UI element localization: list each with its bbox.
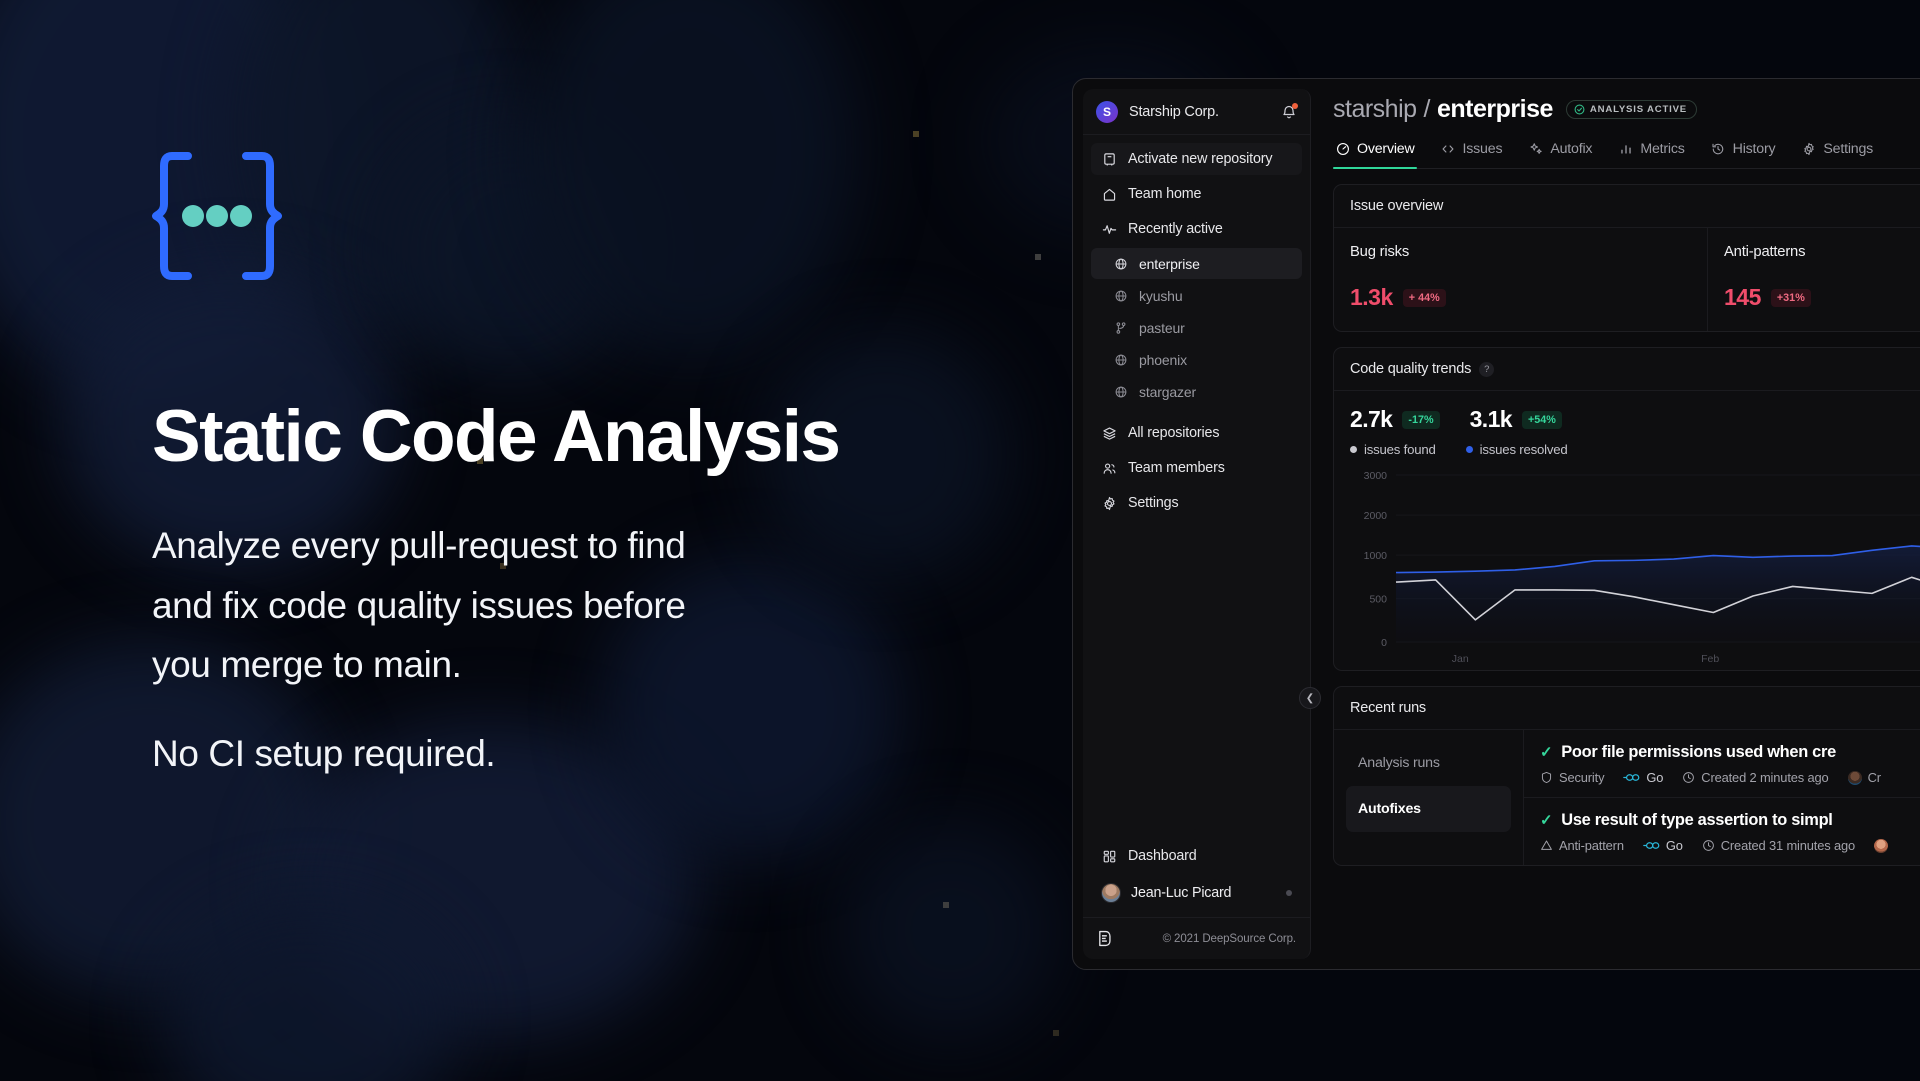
user-name: Jean-Luc Picard — [1131, 885, 1276, 901]
tab-label: Overview — [1357, 141, 1415, 157]
tab-autofix[interactable]: Autofix — [1526, 141, 1594, 168]
sidebar-item-team-home[interactable]: Team home — [1091, 178, 1302, 210]
avatar — [1874, 839, 1888, 853]
recent-runs-card: Recent runs Analysis runs Autofixes ✓ Po… — [1333, 686, 1920, 866]
stat-bug-risks: Bug risks 1.3k + 44% — [1334, 228, 1707, 331]
sidebar-label: Activate new repository — [1128, 151, 1272, 167]
run-created: Created 31 minutes ago — [1702, 838, 1855, 853]
chart-legend: issues found issues resolved — [1350, 442, 1920, 457]
recent-runs-tabs: Analysis runs Autofixes — [1334, 730, 1524, 865]
svg-text:1000: 1000 — [1364, 550, 1388, 562]
issue-overview-title: Issue overview — [1334, 185, 1920, 228]
svg-text:2000: 2000 — [1364, 510, 1388, 522]
git-branch-icon — [1113, 320, 1128, 335]
gauge-icon — [1335, 142, 1350, 157]
breadcrumb-repo: enterprise — [1437, 95, 1553, 124]
list-item[interactable]: ✓ Use result of type assertion to simpl … — [1524, 797, 1920, 865]
check-icon: ✓ — [1540, 813, 1552, 828]
run-tab-label: Autofixes — [1358, 801, 1421, 817]
activity-pulse-icon — [1101, 221, 1117, 237]
notification-dot — [1292, 103, 1298, 109]
code-brackets-icon — [1441, 142, 1456, 157]
stat-label: Bug risks — [1350, 244, 1691, 260]
shield-icon — [1540, 771, 1553, 784]
sidebar-label: phoenix — [1139, 352, 1187, 368]
sidebar-item-recently-active[interactable]: Recently active — [1091, 213, 1302, 245]
breadcrumb-owner[interactable]: starship — [1333, 95, 1417, 124]
run-created-label: Created 2 minutes ago — [1701, 770, 1828, 785]
globe-icon — [1113, 256, 1128, 271]
sidebar-label: Recently active — [1128, 221, 1223, 237]
app-window: S Starship Corp. — [1072, 78, 1920, 970]
hero-line-2: and fix code quality issues before — [152, 576, 1032, 635]
golang-gopher-icon — [1623, 772, 1640, 783]
notification-bell-icon[interactable] — [1281, 104, 1297, 120]
metric-value: 2.7k — [1350, 406, 1392, 433]
sidebar-label: Team home — [1128, 186, 1201, 202]
stat-label: Anti-patterns — [1724, 244, 1920, 260]
sidebar-item-dashboard[interactable]: Dashboard — [1091, 840, 1302, 872]
sidebar: S Starship Corp. — [1083, 89, 1311, 959]
layers-icon — [1101, 425, 1117, 441]
tab-metrics[interactable]: Metrics — [1616, 141, 1686, 168]
hero-paragraph: Analyze every pull-request to find and f… — [152, 516, 1032, 783]
tab-label: Autofix — [1550, 141, 1592, 157]
status-badge-label: ANALYSIS ACTIVE — [1590, 104, 1687, 115]
legend-dot — [1350, 446, 1357, 453]
status-dot — [1286, 890, 1292, 896]
sidebar-item-team-members[interactable]: Team members — [1091, 452, 1302, 484]
breadcrumb-separator: / — [1424, 95, 1430, 124]
sidebar-label: All repositories — [1128, 425, 1219, 441]
clock-icon — [1702, 839, 1715, 852]
run-category: Anti-pattern — [1540, 838, 1624, 853]
run-author-label: Cr — [1868, 770, 1881, 785]
svg-text:Jan: Jan — [1452, 653, 1469, 665]
page-title: Static Code Analysis — [152, 400, 1032, 474]
legend-issues-found: issues found — [1350, 442, 1436, 457]
code-quality-title: Code quality trends — [1350, 361, 1471, 377]
braces-dots-logo — [152, 150, 282, 282]
recent-runs-title: Recent runs — [1334, 687, 1920, 730]
avatar — [1848, 771, 1862, 785]
chevron-left-icon[interactable]: ❮ — [1299, 687, 1321, 709]
tab-label: Metrics — [1640, 141, 1684, 157]
main-content: starship / enterprise ANALYSIS ACTIVE Ov… — [1311, 79, 1920, 969]
sparkles-icon — [1528, 142, 1543, 157]
tab-label: History — [1733, 141, 1776, 157]
status-badge: ANALYSIS ACTIVE — [1566, 100, 1697, 119]
run-author — [1874, 839, 1888, 853]
sidebar-nav: Activate new repository Team home — [1083, 135, 1310, 840]
check-circle-icon — [1574, 104, 1585, 115]
sidebar-label: Team members — [1128, 460, 1225, 476]
tab-bar: Overview Issues Autofix Metrics History — [1333, 141, 1920, 169]
tab-analysis-runs[interactable]: Analysis runs — [1346, 740, 1511, 786]
sidebar-item-phoenix[interactable]: phoenix — [1091, 344, 1302, 375]
copyright-text: © 2021 DeepSource Corp. — [1163, 933, 1296, 945]
metric-issues-resolved: 3.1k +54% — [1470, 406, 1562, 433]
tab-autofixes[interactable]: Autofixes — [1346, 786, 1511, 832]
sidebar-item-all-repositories[interactable]: All repositories — [1091, 417, 1302, 449]
run-language-label: Go — [1666, 838, 1683, 853]
run-category: Security — [1540, 770, 1604, 785]
run-author: Cr — [1848, 770, 1881, 785]
metric-delta: +54% — [1522, 411, 1562, 429]
org-avatar: S — [1096, 101, 1118, 123]
stat-value: 1.3k — [1350, 284, 1393, 311]
svg-text:0: 0 — [1381, 637, 1387, 649]
legend-issues-resolved: issues resolved — [1466, 442, 1568, 457]
sidebar-user[interactable]: Jean-Luc Picard — [1091, 875, 1302, 911]
hero-line-1: Analyze every pull-request to find — [152, 516, 1032, 575]
code-quality-chart: 0500100020003000JanFebMar — [1350, 465, 1920, 670]
issue-overview-card: Issue overview Bug risks 1.3k + 44% Anti… — [1333, 184, 1920, 332]
tab-issues[interactable]: Issues — [1439, 141, 1505, 168]
screenshot-root: Static Code Analysis Analyze every pull-… — [0, 0, 1920, 1081]
sidebar-label: enterprise — [1139, 256, 1200, 272]
deepsource-logo-icon — [1097, 930, 1112, 947]
dashboard-grid-icon — [1101, 848, 1117, 864]
bar-chart-icon — [1618, 142, 1633, 157]
metric-issues-found: 2.7k -17% — [1350, 406, 1440, 433]
check-icon: ✓ — [1540, 745, 1552, 760]
stat-value: 145 — [1724, 284, 1761, 311]
sidebar-footer: © 2021 DeepSource Corp. — [1083, 917, 1310, 959]
home-icon — [1101, 186, 1117, 202]
stat-delta: + 44% — [1403, 289, 1446, 307]
sidebar-item-enterprise[interactable]: enterprise — [1091, 248, 1302, 279]
hero-section: Static Code Analysis Analyze every pull-… — [152, 150, 1032, 783]
globe-icon — [1113, 288, 1128, 303]
sidebar-label: Settings — [1128, 495, 1178, 511]
history-clock-icon — [1711, 142, 1726, 157]
run-title-text: Poor file permissions used when cre — [1561, 743, 1836, 762]
recent-runs-list: ✓ Poor file permissions used when cre Se… — [1524, 730, 1920, 865]
tab-overview[interactable]: Overview — [1333, 141, 1417, 168]
code-quality-trends-card: Code quality trends ? 2.7k -17% — [1333, 347, 1920, 671]
clock-icon — [1682, 771, 1695, 784]
hero-line-3: you merge to main. — [152, 635, 1032, 694]
sidebar-label: stargazer — [1139, 384, 1196, 400]
sidebar-label: Dashboard — [1128, 848, 1197, 864]
run-created: Created 2 minutes ago — [1682, 770, 1828, 785]
metric-delta: -17% — [1402, 411, 1439, 429]
run-language-label: Go — [1646, 770, 1663, 785]
run-language: Go — [1623, 770, 1663, 785]
run-title-text: Use result of type assertion to simpl — [1561, 811, 1832, 830]
sidebar-item-stargazer[interactable]: stargazer — [1091, 376, 1302, 407]
sidebar-label: kyushu — [1139, 288, 1182, 304]
run-category-label: Security — [1559, 770, 1604, 785]
svg-text:Feb: Feb — [1701, 653, 1719, 665]
tab-history[interactable]: History — [1709, 141, 1778, 168]
org-switcher[interactable]: S Starship Corp. — [1083, 89, 1310, 135]
sidebar-item-settings[interactable]: Settings — [1091, 487, 1302, 519]
code-quality-title-row: Code quality trends ? — [1334, 348, 1920, 391]
avatar — [1101, 883, 1121, 903]
svg-text:500: 500 — [1369, 594, 1387, 606]
book-icon — [1101, 151, 1117, 167]
sidebar-item-activate-new-repository[interactable]: Activate new repository — [1091, 143, 1302, 175]
stat-anti-patterns: Anti-patterns 145 +31% — [1707, 228, 1920, 331]
question-mark-icon[interactable]: ? — [1479, 362, 1494, 377]
run-category-label: Anti-pattern — [1559, 838, 1624, 853]
gear-icon — [1101, 495, 1117, 511]
gear-icon — [1801, 142, 1816, 157]
golang-gopher-icon — [1643, 840, 1660, 851]
run-tab-label: Analysis runs — [1358, 755, 1440, 771]
sidebar-item-pasteur[interactable]: pasteur — [1091, 312, 1302, 343]
warning-triangle-icon — [1540, 839, 1553, 852]
sidebar-label: pasteur — [1139, 320, 1185, 336]
globe-icon — [1113, 384, 1128, 399]
tab-label: Settings — [1823, 141, 1873, 157]
users-icon — [1101, 460, 1117, 476]
run-language: Go — [1643, 838, 1683, 853]
sidebar-item-kyushu[interactable]: kyushu — [1091, 280, 1302, 311]
sidebar-bottom: Dashboard Jean-Luc Picard — [1083, 840, 1310, 917]
globe-icon — [1113, 352, 1128, 367]
svg-text:3000: 3000 — [1364, 470, 1388, 482]
breadcrumb: starship / enterprise ANALYSIS ACTIVE — [1333, 95, 1920, 124]
org-name: Starship Corp. — [1129, 104, 1270, 120]
legend-dot — [1466, 446, 1473, 453]
list-item[interactable]: ✓ Poor file permissions used when cre Se… — [1524, 730, 1920, 797]
run-created-label: Created 31 minutes ago — [1721, 838, 1855, 853]
legend-label: issues resolved — [1480, 442, 1568, 457]
hero-line-4: No CI setup required. — [152, 724, 1032, 783]
tab-settings[interactable]: Settings — [1799, 141, 1875, 168]
legend-label: issues found — [1364, 442, 1436, 457]
metric-value: 3.1k — [1470, 406, 1512, 433]
tab-label: Issues — [1463, 141, 1503, 157]
stat-delta: +31% — [1771, 289, 1811, 307]
